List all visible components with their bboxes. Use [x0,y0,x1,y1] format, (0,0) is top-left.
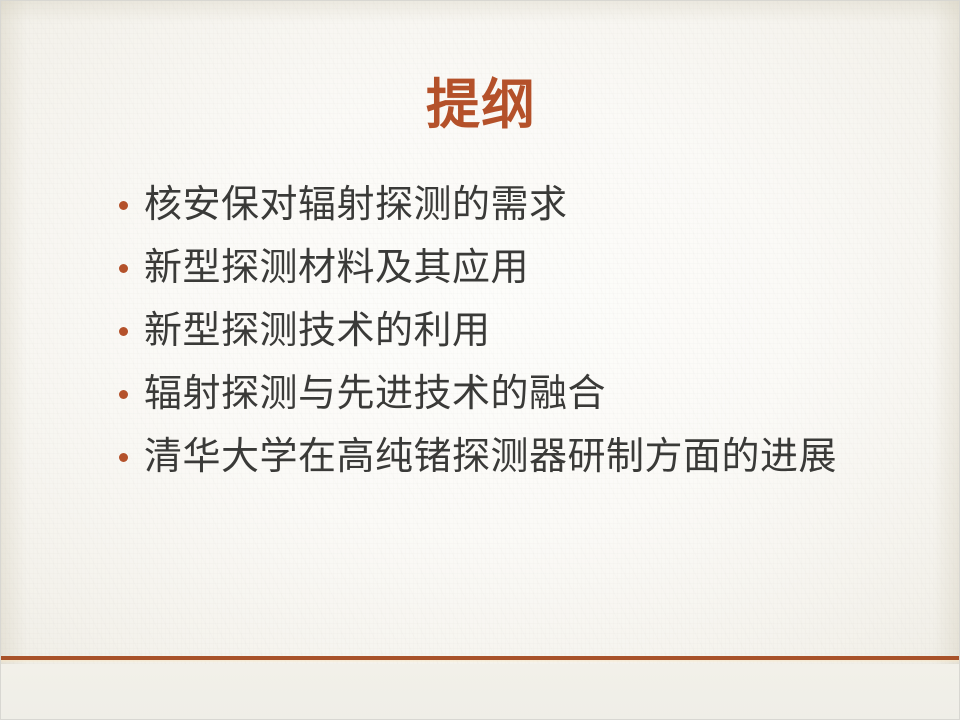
title-block: 提纲 [1,75,960,135]
footer-rule-glow [1,660,960,663]
list-item: 新型探测材料及其应用 [119,242,919,305]
bullet-list: 核安保对辐射探测的需求 新型探测材料及其应用 新型探测技术的利用 辐射探测与先进… [119,179,919,494]
bullet-dot-icon [119,264,128,273]
bullet-dot-icon [119,453,128,462]
list-item-label: 辐射探测与先进技术的融合 [144,368,919,420]
bullet-dot-icon [119,390,128,399]
footer-area [1,664,960,720]
list-item: 清华大学在高纯锗探测器研制方面的进展 [119,431,919,494]
bullet-dot-icon [119,327,128,336]
list-item-label: 新型探测材料及其应用 [144,242,919,294]
list-item: 新型探测技术的利用 [119,305,919,368]
list-item: 核安保对辐射探测的需求 [119,179,919,242]
list-item-label: 新型探测技术的利用 [144,305,919,357]
list-item: 辐射探测与先进技术的融合 [119,368,919,431]
presentation-slide: 提纲 核安保对辐射探测的需求 新型探测材料及其应用 新型探测技术的利用 辐射探测… [0,0,960,720]
slide-title: 提纲 [426,75,536,135]
list-item-label: 核安保对辐射探测的需求 [144,179,919,231]
bullet-dot-icon [119,201,128,210]
list-item-label: 清华大学在高纯锗探测器研制方面的进展 [144,431,919,483]
